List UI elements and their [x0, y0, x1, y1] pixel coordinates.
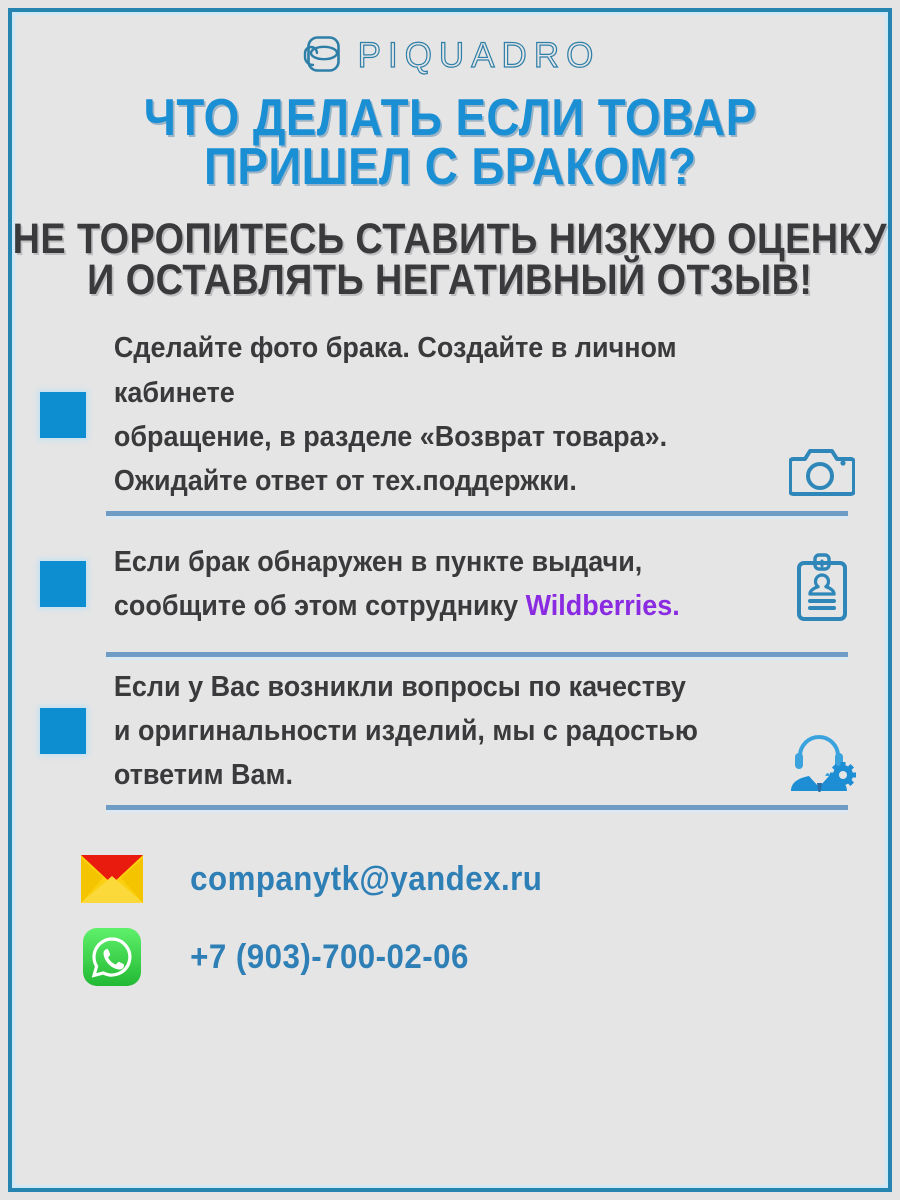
step-text-line: сообщите об этом сотруднику Wildberries.: [114, 584, 735, 628]
step-text: Сделайте фото брака. Создайте в личном к…: [86, 326, 735, 502]
step-text-prefix: сообщите об этом сотруднику: [114, 590, 526, 622]
step-text: Если у Вас возникли вопросы по качеству …: [86, 665, 735, 797]
contact-list: companytk@yandex.ru +7 (903)-700-02-06: [12, 818, 888, 996]
bullet-marker-icon: [40, 392, 86, 438]
whatsapp-icon: [78, 923, 146, 991]
step-text-line: и оригинальности изделий, мы с радостью: [114, 709, 735, 753]
id-badge-icon: [784, 541, 860, 627]
brand-wordmark: PIQUADRO: [358, 38, 601, 73]
step-text-line: Ожидайте ответ от тех.поддержки.: [114, 459, 735, 503]
page-title: ЧТО ДЕЛАТЬ ЕСЛИ ТОВАР ПРИШЕЛ С БРАКОМ?: [144, 94, 757, 193]
contact-whatsapp[interactable]: +7 (903)-700-02-06: [78, 918, 860, 996]
poster: PIQUADRO ЧТО ДЕЛАТЬ ЕСЛИ ТОВАР ПРИШЕЛ С …: [0, 0, 900, 1200]
step-text-line: ответим Вам.: [114, 753, 735, 797]
contact-email-value[interactable]: companytk@yandex.ru: [146, 860, 542, 899]
support-agent-gear-icon: [784, 711, 860, 797]
brand-logo: PIQUADRO: [300, 32, 601, 78]
page-subtitle-line2: И ОСТАВЛЯТЬ НЕГАТИВНЫЙ ОТЗЫВ!: [13, 260, 887, 301]
camera-icon: [784, 417, 860, 503]
step-item: Если у Вас возникли вопросы по качеству …: [40, 665, 860, 797]
step-text-line: Если у Вас возникли вопросы по качеству: [114, 665, 735, 709]
steps-list: Сделайте фото брака. Создайте в личном к…: [12, 326, 888, 818]
section-divider: [106, 805, 848, 810]
step-text-line: обращение, в разделе «Возврат товара».: [114, 415, 735, 459]
poster-frame: PIQUADRO ЧТО ДЕЛАТЬ ЕСЛИ ТОВАР ПРИШЕЛ С …: [8, 8, 892, 1192]
step-item: Сделайте фото брака. Создайте в личном к…: [40, 326, 860, 502]
step-text-line: Сделайте фото брака. Создайте в личном к…: [114, 326, 735, 414]
piquadro-loop-logo-icon: [300, 34, 342, 76]
step-text-line: Если брак обнаружен в пункте выдачи,: [114, 540, 735, 584]
section-divider: [106, 511, 848, 516]
contact-email[interactable]: companytk@yandex.ru: [78, 840, 860, 918]
contact-phone-value[interactable]: +7 (903)-700-02-06: [146, 938, 469, 977]
page-subtitle: НЕ ТОРОПИТЕСЬ СТАВИТЬ НИЗКУЮ ОЦЕНКУ И ОС…: [13, 219, 887, 301]
step-text: Если брак обнаружен в пункте выдачи, соо…: [86, 540, 735, 628]
section-divider: [106, 652, 848, 657]
bullet-marker-icon: [40, 561, 86, 607]
wildberries-highlight: Wildberries.: [526, 590, 680, 622]
page-title-line2: ПРИШЕЛ С БРАКОМ?: [144, 143, 757, 192]
yandex-mail-envelope-icon: [78, 845, 146, 913]
bullet-marker-icon: [40, 708, 86, 754]
step-item: Если брак обнаружен в пункте выдачи, соо…: [40, 524, 860, 644]
